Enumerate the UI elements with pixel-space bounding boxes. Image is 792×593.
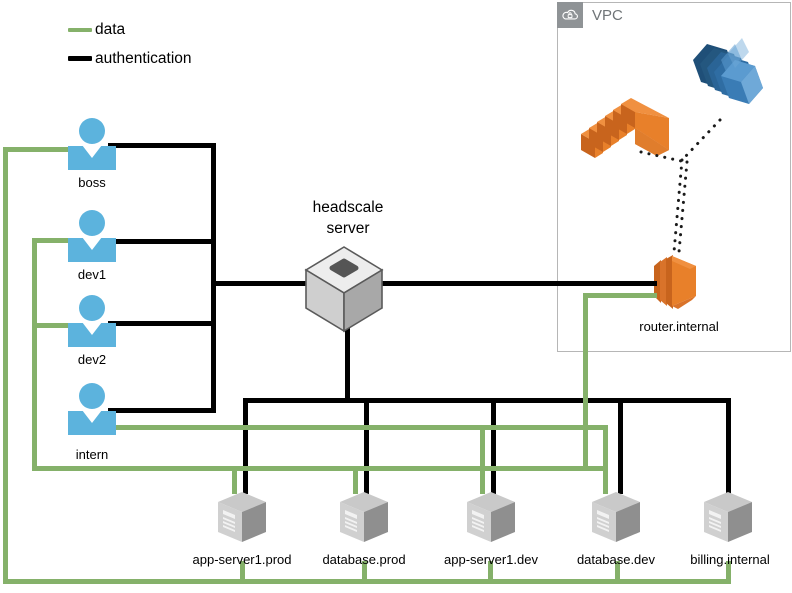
server-label-database-prod: database.prod (306, 553, 422, 566)
auth-wire-boss (108, 143, 216, 148)
server-icon-billing-internal[interactable] (702, 490, 750, 542)
vpc-header: VPC (557, 2, 623, 28)
user-icon-boss[interactable] (68, 118, 116, 170)
auth-wire-users-to-headscale (211, 281, 315, 286)
data-wire-dev-rail (32, 238, 37, 470)
user-icon-dev1[interactable] (68, 210, 116, 262)
user-label-dev2: dev2 (44, 353, 140, 366)
user-label-boss: boss (44, 176, 140, 189)
auth-wire-intern (108, 408, 216, 413)
user-collar-icon (82, 145, 102, 158)
server-icon-app-server1-dev[interactable] (465, 490, 513, 542)
user-icon-intern[interactable] (68, 383, 116, 435)
auth-wire-dev1 (108, 239, 216, 244)
headscale-label-line2: server (268, 221, 428, 237)
legend-label-data: data (95, 22, 125, 38)
user-head-icon (79, 210, 105, 236)
auth-wire-headscale-to-router (382, 281, 657, 286)
server-label-database-dev: database.dev (558, 553, 674, 566)
vpc-title: VPC (592, 8, 623, 23)
legend-item-data: data (68, 22, 125, 38)
server-label-app-server1-prod: app-server1.prod (178, 553, 306, 566)
user-head-icon (79, 383, 105, 409)
auth-wire-drop-billing-internal (726, 398, 731, 494)
data-wire-riser-app-server1-dev (480, 425, 485, 494)
user-label-dev1: dev1 (44, 268, 140, 281)
data-wire-left-rail (3, 147, 8, 582)
user-collar-icon (82, 237, 102, 250)
auth-wire-dev2 (108, 321, 216, 326)
auth-wire-drop-app-server1-dev (491, 398, 496, 494)
legend-label-authentication: authentication (95, 51, 192, 67)
cube-icon[interactable] (303, 245, 385, 319)
auth-line-swatch-icon (68, 56, 92, 61)
auth-wire-drop-database-prod (364, 398, 369, 494)
data-wire-router (583, 293, 657, 298)
data-wire-intern (108, 425, 608, 430)
aws-multiple-databases-icon (683, 36, 779, 136)
server-icon-app-server1-prod[interactable] (216, 490, 264, 542)
headscale-label-line1: headscale (268, 200, 428, 216)
server-icon-database-dev[interactable] (590, 490, 638, 542)
auth-wire-server-bus (243, 398, 731, 403)
data-wire-intern-drop (603, 425, 608, 470)
auth-wire-user-bus (211, 143, 216, 413)
data-wire-bottom-rail (3, 579, 731, 584)
server-label-app-server1-dev: app-server1.dev (432, 553, 550, 566)
user-label-intern: intern (44, 448, 140, 461)
user-icon-dev2[interactable] (68, 295, 116, 347)
user-head-icon (79, 118, 105, 144)
aws-instance-icon (650, 252, 708, 312)
data-wire-router-down (583, 293, 588, 470)
auth-wire-drop-database-dev (618, 398, 623, 494)
cloud-lock-icon (557, 2, 583, 28)
network-diagram-canvas: data authentication VPC (0, 0, 792, 593)
legend-item-authentication: authentication (68, 51, 192, 67)
server-label-billing-internal: billing.internal (672, 553, 788, 566)
data-line-swatch-icon (68, 28, 92, 32)
user-collar-icon (82, 410, 102, 423)
aws-multiple-instances-icon (575, 72, 685, 162)
user-head-icon (79, 295, 105, 321)
router-label: router.internal (601, 320, 757, 333)
server-icon-database-prod[interactable] (338, 490, 386, 542)
auth-wire-drop-app-server1-prod (243, 398, 248, 494)
user-collar-icon (82, 322, 102, 335)
data-wire-dev-rail-to-mid (32, 466, 608, 471)
